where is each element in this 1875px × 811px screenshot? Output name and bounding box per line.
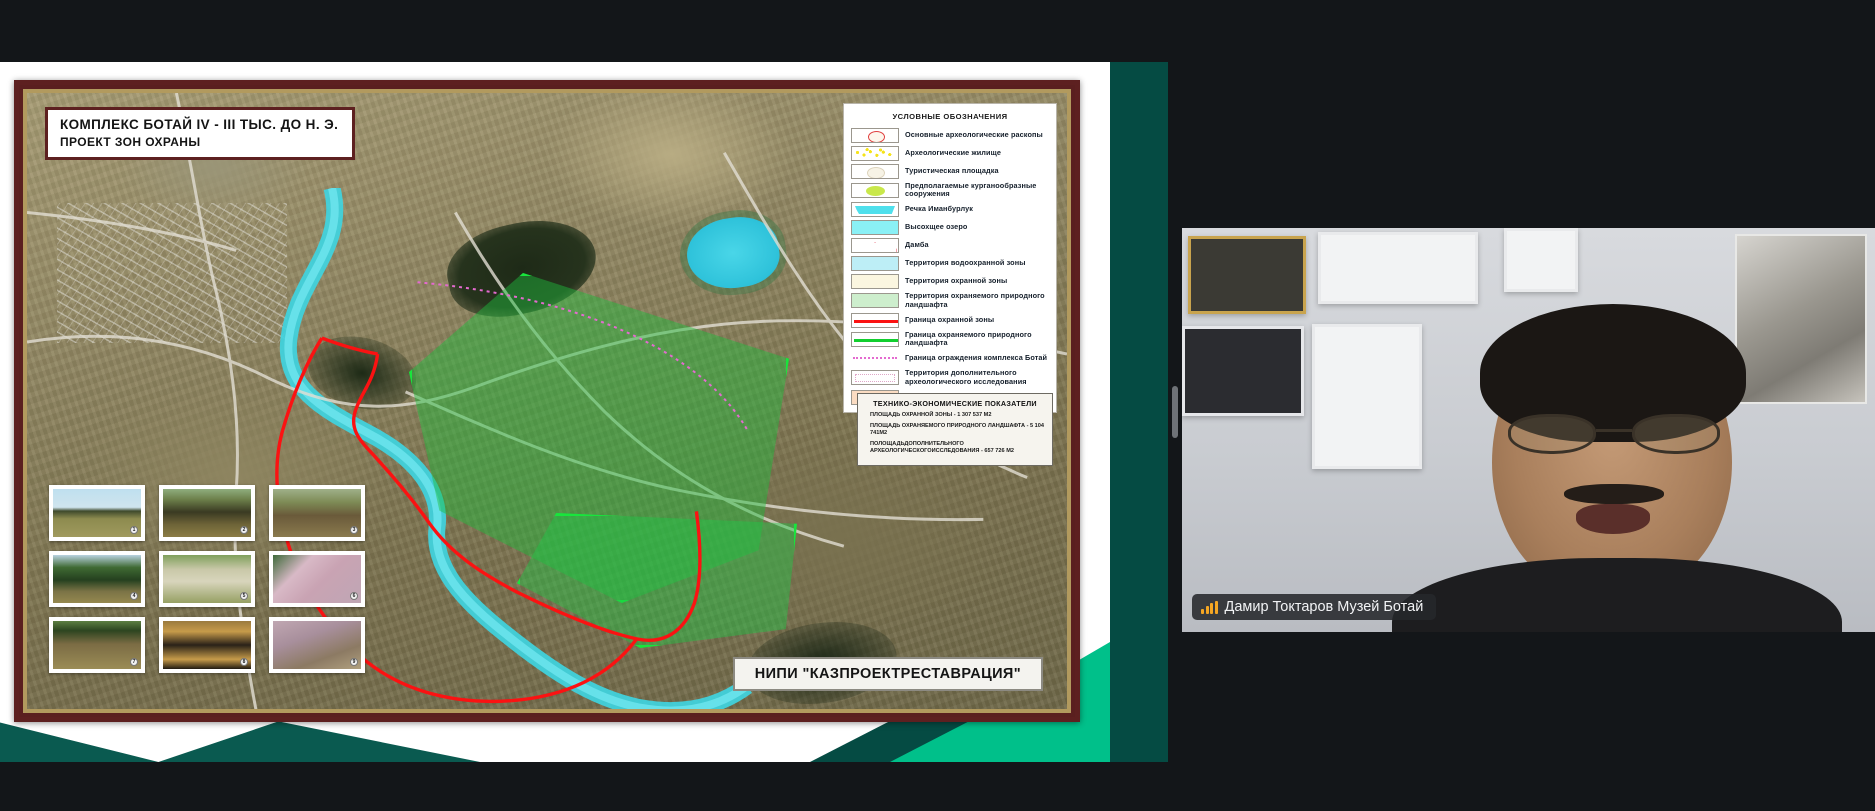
- legend-label: Высохщее озеро: [905, 223, 967, 232]
- glasses-icon: [1508, 414, 1720, 454]
- photo-thumbnail[interactable]: 4: [49, 551, 145, 607]
- slide-accent-bar-right: [1110, 62, 1168, 762]
- map-poster-inner: КОМПЛЕКС БОТАЙ IV - III ТЫС. ДО Н. Э. ПР…: [23, 89, 1071, 713]
- photo-badge: 4: [130, 592, 138, 600]
- photo-badge: 2: [240, 526, 248, 534]
- poster-title-line1: КОМПЛЕКС БОТАЙ IV - III ТЫС. ДО Н. Э.: [60, 117, 338, 132]
- photo-thumbnail[interactable]: 1: [49, 485, 145, 541]
- tourist-area-icon: [851, 164, 899, 179]
- photo-thumbnail[interactable]: 5: [159, 551, 255, 607]
- legend-label: Граница охранной зоны: [905, 316, 994, 325]
- legend-item-kurgan: Предполагаемые курганообразные сооружени…: [849, 180, 1051, 201]
- protection-zone-icon: [851, 274, 899, 289]
- map-legend: УСЛОВНЫЕ ОБОЗНАЧЕНИЯ Основные археологич…: [843, 103, 1057, 413]
- technical-economic-indicators: ТЕХНИКО-ЭКОНОМИЧЕСКИЕ ПОКАЗАТЕЛИ ПЛОЩАДЬ…: [857, 393, 1053, 466]
- legend-label: Граница ограждения комплекса Ботай: [905, 354, 1047, 363]
- legend-item-excavation: Основные археологические раскопы: [849, 126, 1051, 144]
- pane-resize-handle[interactable]: [1172, 386, 1178, 438]
- photo-badge: 5: [240, 592, 248, 600]
- poster-title-line2: ПРОЕКТ ЗОН ОХРАНЫ: [60, 135, 338, 149]
- legend-item-dwelling: Археологические жилище: [849, 144, 1051, 162]
- legend-label: Туристическая площадка: [905, 167, 999, 176]
- legend-item-red-boundary: Граница охранной зоны: [849, 311, 1051, 329]
- participant-mustache: [1564, 484, 1664, 504]
- water-zone-icon: [851, 256, 899, 271]
- legend-label: Территория водоохранной зоны: [905, 259, 1026, 268]
- legend-label: Граница охраняемого природного ландшафта: [905, 331, 1051, 349]
- legend-item-dry-lake: Высохщее озеро: [849, 219, 1051, 237]
- legend-item-protection-zone: Территория охранной зоны: [849, 273, 1051, 291]
- river-icon: [851, 202, 899, 217]
- legend-item-additional-research: Территория дополнительного археологическ…: [849, 368, 1051, 389]
- legend-label: Территория дополнительного археологическ…: [905, 369, 1051, 387]
- audio-level-icon: [1201, 601, 1218, 614]
- dry-lake-icon: [851, 220, 899, 235]
- excavation-circle-icon: [851, 128, 899, 143]
- participant-name-label: Дамир Токтаров Музей Ботай: [1225, 599, 1424, 615]
- dam-icon: [851, 238, 899, 253]
- wall-frame: [1188, 236, 1306, 314]
- participant-name-badge: Дамир Токтаров Музей Ботай: [1192, 594, 1436, 620]
- legend-label: Территория охраняемого природного ландша…: [905, 292, 1051, 310]
- legend-item-fence-boundary: Граница ограждения комплекса Ботай: [849, 350, 1051, 368]
- photo-badge: 6: [350, 592, 358, 600]
- photo-thumbnail[interactable]: 6: [269, 551, 365, 607]
- legend-item-water-zone: Территория водоохранной зоны: [849, 255, 1051, 273]
- photo-thumbnail[interactable]: 7: [49, 617, 145, 673]
- photo-thumbnail[interactable]: 3: [269, 485, 365, 541]
- map-poster[interactable]: КОМПЛЕКС БОТАЙ IV - III ТЫС. ДО Н. Э. ПР…: [14, 80, 1080, 722]
- participant-mouth: [1576, 504, 1650, 534]
- legend-title: УСЛОВНЫЕ ОБОЗНАЧЕНИЯ: [849, 109, 1051, 126]
- legend-label: Археологические жилище: [905, 149, 1001, 158]
- legend-label: Основные археологические раскопы: [905, 131, 1043, 140]
- meeting-screen: КОМПЛЕКС БОТАЙ IV - III ТЫС. ДО Н. Э. ПР…: [0, 0, 1875, 811]
- photo-thumbnail[interactable]: 8: [159, 617, 255, 673]
- video-participant-tile[interactable]: Дамир Токтаров Музей Ботай: [1182, 228, 1875, 632]
- photo-thumbnail[interactable]: 2: [159, 485, 255, 541]
- photo-badge: 3: [350, 526, 358, 534]
- wall-frame: [1182, 326, 1304, 416]
- legend-item-dam: Дамба: [849, 237, 1051, 255]
- wall-frame: [1504, 228, 1578, 292]
- legend-item-landscape-zone: Территория охраняемого природного ландша…: [849, 291, 1051, 312]
- participant-figure: [1332, 308, 1852, 632]
- photo-badge: 8: [240, 658, 248, 666]
- photo-badge: 1: [130, 526, 138, 534]
- poster-title-plate: КОМПЛЕКС БОТАЙ IV - III ТЫС. ДО Н. Э. ПР…: [45, 107, 355, 160]
- photo-thumbnail-grid: 1 2 3 4 5 6 7 8 9: [49, 485, 365, 673]
- legend-item-tourist-area: Туристическая площадка: [849, 162, 1051, 180]
- legend-item-river: Речка Иманбурлук: [849, 201, 1051, 219]
- legend-label: Дамба: [905, 241, 929, 250]
- photo-badge: 7: [130, 658, 138, 666]
- tep-row: ПЛОЩАДЬ ОХРАНЯЕМОГО ПРИРОДНОГО ЛАНДШАФТА…: [864, 423, 1046, 438]
- legend-label: Территория охранной зоны: [905, 277, 1007, 286]
- additional-research-icon: [851, 370, 899, 385]
- tep-row: ПОЛОЩАДЬДОПОЛНИТЕЛЬНОГО АРХЕОЛОГИЧЕСКОГО…: [864, 441, 1046, 456]
- shared-slide-pane[interactable]: КОМПЛЕКС БОТАЙ IV - III ТЫС. ДО Н. Э. ПР…: [0, 62, 1168, 762]
- legend-label: Речка Иманбурлук: [905, 205, 973, 214]
- kurgan-icon: [851, 183, 899, 198]
- legend-item-green-boundary: Граница охраняемого природного ландшафта: [849, 329, 1051, 350]
- photo-badge: 9: [350, 658, 358, 666]
- landscape-zone-icon: [851, 293, 899, 308]
- fence-boundary-icon: [851, 351, 899, 366]
- legend-label: Предполагаемые курганообразные сооружени…: [905, 182, 1051, 200]
- green-boundary-icon: [851, 332, 899, 347]
- red-boundary-icon: [851, 313, 899, 328]
- tep-title: ТЕХНИКО-ЭКОНОМИЧЕСКИЕ ПОКАЗАТЕЛИ: [864, 399, 1046, 408]
- photo-thumbnail[interactable]: 9: [269, 617, 365, 673]
- dwelling-dots-icon: [851, 146, 899, 161]
- institute-plate: НИПИ "КАЗПРОЕКТРЕСТАВРАЦИЯ": [733, 657, 1043, 691]
- wall-frame: [1318, 232, 1478, 304]
- participant-torso: [1392, 558, 1842, 632]
- tep-row: ПЛОЩАДЬ ОХРАННОЙ ЗОНЫ - 1 307 537 М2: [864, 412, 1046, 420]
